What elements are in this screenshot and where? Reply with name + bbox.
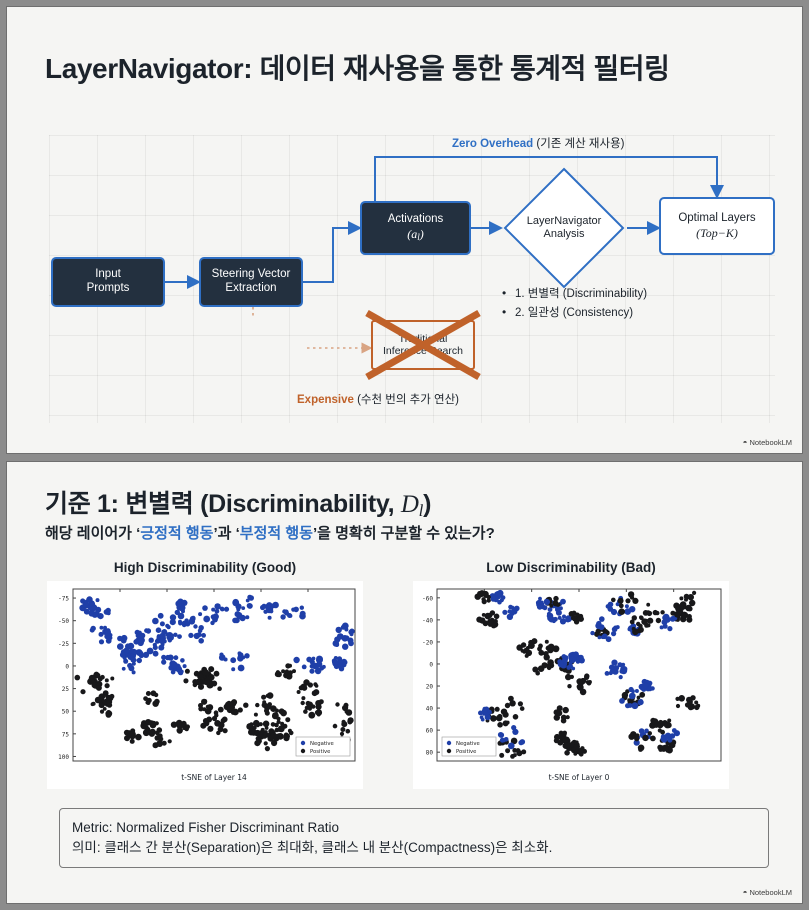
svg-text:50: 50 bbox=[62, 709, 70, 716]
node-input-prompts[interactable]: Input Prompts bbox=[51, 257, 165, 307]
list-item: 1. 변별력 (Discriminability) bbox=[502, 285, 647, 304]
svg-text:0: 0 bbox=[429, 661, 433, 668]
svg-text:-75: -75 bbox=[58, 596, 69, 603]
chart-high-discriminability: High Discriminability (Good) -75-50-2502… bbox=[47, 560, 363, 788]
subtitle-part-2: ’과 ‘ bbox=[213, 525, 239, 542]
metric-line-2: 의미: 클래스 간 분산(Separation)은 최대화, 클래스 내 분산(… bbox=[72, 838, 756, 858]
chart-title-right: Low Discriminability (Bad) bbox=[413, 560, 729, 575]
svg-text:Positive: Positive bbox=[310, 749, 330, 755]
chart-title-left: High Discriminability (Good) bbox=[47, 560, 363, 575]
svg-text:Negative: Negative bbox=[310, 741, 334, 747]
svg-text:-60: -60 bbox=[422, 595, 433, 602]
label-expensive-bold: Expensive bbox=[297, 394, 354, 406]
notebooklm-watermark: ◓ NotebookLM bbox=[743, 888, 792, 897]
node-optimal-math: (Top−K) bbox=[696, 226, 738, 240]
page-title: LayerNavigator: 데이터 재사용을 통한 통계적 필터링 bbox=[45, 47, 669, 87]
svg-text:20: 20 bbox=[426, 684, 434, 691]
subtitle-part-1: 해당 레이어가 ‘ bbox=[45, 525, 140, 542]
label-zero-overhead-bold: Zero Overhead bbox=[452, 138, 533, 150]
notebooklm-logo-icon: ◓ bbox=[743, 438, 748, 447]
svg-text:-40: -40 bbox=[422, 617, 433, 624]
svg-text:t-SNE of Layer 0: t-SNE of Layer 0 bbox=[549, 773, 610, 782]
node-layernavigator-analysis[interactable]: LayerNavigator Analysis bbox=[501, 165, 627, 291]
node-activations[interactable]: Activations (al) bbox=[360, 201, 471, 255]
chart-card-left[interactable]: -75-50-250255075100NegativePositivet-SNE… bbox=[47, 581, 363, 789]
node-traditional-line1: Traditional bbox=[399, 333, 448, 345]
page-title-criterion: 기준 1: 변별력 (Discriminability, Dl) bbox=[45, 484, 431, 521]
scatter-plot-left: -75-50-250255075100NegativePositivet-SNE… bbox=[47, 581, 363, 789]
node-traditional-line2: Inference Search bbox=[383, 345, 463, 357]
svg-text:25: 25 bbox=[62, 686, 70, 693]
node-steering-line2: Extraction bbox=[225, 282, 276, 296]
node-input-prompts-line1: Input bbox=[95, 268, 121, 282]
slide-deck: LayerNavigator: 데이터 재사용을 통한 통계적 필터링 bbox=[0, 0, 809, 910]
scatter-plot-right: -60-40-20020406080NegativePositivet-SNE … bbox=[413, 581, 729, 789]
chart-low-discriminability: Low Discriminability (Bad) -60-40-200204… bbox=[413, 560, 729, 788]
node-optimal-layers[interactable]: Optimal Layers (Top−K) bbox=[659, 197, 775, 255]
label-zero-overhead-rest: (기존 계산 재사용) bbox=[533, 138, 624, 150]
svg-text:t-SNE of Layer 14: t-SNE of Layer 14 bbox=[181, 773, 247, 782]
architecture-diagram: Input Prompts Steering Vector Extraction… bbox=[49, 135, 775, 423]
node-optimal-label: Optimal Layers bbox=[678, 212, 755, 226]
svg-text:100: 100 bbox=[58, 754, 69, 761]
svg-text:Positive: Positive bbox=[456, 749, 476, 755]
svg-text:75: 75 bbox=[62, 731, 70, 738]
svg-text:-50: -50 bbox=[58, 618, 69, 625]
node-steering-line1: Steering Vector bbox=[212, 268, 291, 282]
node-steering-vector-extraction[interactable]: Steering Vector Extraction bbox=[199, 257, 303, 307]
metric-line-1: Metric: Normalized Fisher Discriminant R… bbox=[72, 818, 756, 838]
svg-text:40: 40 bbox=[426, 706, 434, 713]
svg-text:-25: -25 bbox=[58, 641, 69, 648]
metric-description-box: Metric: Normalized Fisher Discriminant R… bbox=[59, 808, 769, 868]
notebooklm-watermark-label: NotebookLM bbox=[749, 888, 792, 897]
subtitle-highlight-positive: 긍정적 행동 bbox=[140, 525, 213, 542]
svg-text:0: 0 bbox=[65, 663, 69, 670]
criteria-list: 1. 변별력 (Discriminability) 2. 일관성 (Consis… bbox=[502, 285, 647, 322]
label-zero-overhead: Zero Overhead (기존 계산 재사용) bbox=[452, 135, 624, 151]
title-math-symbol: Dl bbox=[401, 491, 423, 518]
node-activations-math: (al) bbox=[407, 227, 424, 243]
slide-discriminability: 기준 1: 변별력 (Discriminability, Dl) 해당 레이어가… bbox=[6, 461, 803, 904]
title-prefix: 기준 1: 변별력 (Discriminability, bbox=[45, 490, 401, 518]
notebooklm-watermark-label: NotebookLM bbox=[749, 438, 792, 447]
svg-text:Negative: Negative bbox=[456, 741, 480, 747]
svg-text:60: 60 bbox=[426, 728, 434, 735]
svg-text:80: 80 bbox=[426, 750, 434, 757]
svg-text:-20: -20 bbox=[422, 639, 433, 646]
node-input-prompts-line2: Prompts bbox=[87, 282, 130, 296]
node-analysis-text: LayerNavigator Analysis bbox=[527, 215, 602, 241]
label-expensive-rest: (수천 번의 추가 연산) bbox=[354, 394, 459, 406]
title-suffix: ) bbox=[423, 490, 431, 518]
list-item: 2. 일관성 (Consistency) bbox=[502, 304, 647, 323]
notebooklm-watermark: ◓ NotebookLM bbox=[743, 438, 792, 447]
subtitle-highlight-negative: 부정적 행동 bbox=[240, 525, 313, 542]
subtitle-part-3: ’을 명확히 구분할 수 있는가? bbox=[313, 525, 495, 542]
notebooklm-logo-icon: ◓ bbox=[743, 888, 748, 897]
chart-card-right[interactable]: -60-40-20020406080NegativePositivet-SNE … bbox=[413, 581, 729, 789]
subtitle-question: 해당 레이어가 ‘긍정적 행동’과 ‘부정적 행동’을 명확히 구분할 수 있는… bbox=[45, 522, 495, 543]
slide-architecture: LayerNavigator: 데이터 재사용을 통한 통계적 필터링 bbox=[6, 6, 803, 454]
node-analysis-line2: Analysis bbox=[527, 228, 602, 241]
label-expensive: Expensive (수천 번의 추가 연산) bbox=[297, 391, 459, 407]
charts-row: High Discriminability (Good) -75-50-2502… bbox=[47, 560, 769, 788]
node-traditional-inference-search[interactable]: Traditional Inference Search bbox=[371, 320, 475, 370]
node-analysis-line1: LayerNavigator bbox=[527, 215, 602, 228]
node-activations-label: Activations bbox=[388, 213, 444, 227]
